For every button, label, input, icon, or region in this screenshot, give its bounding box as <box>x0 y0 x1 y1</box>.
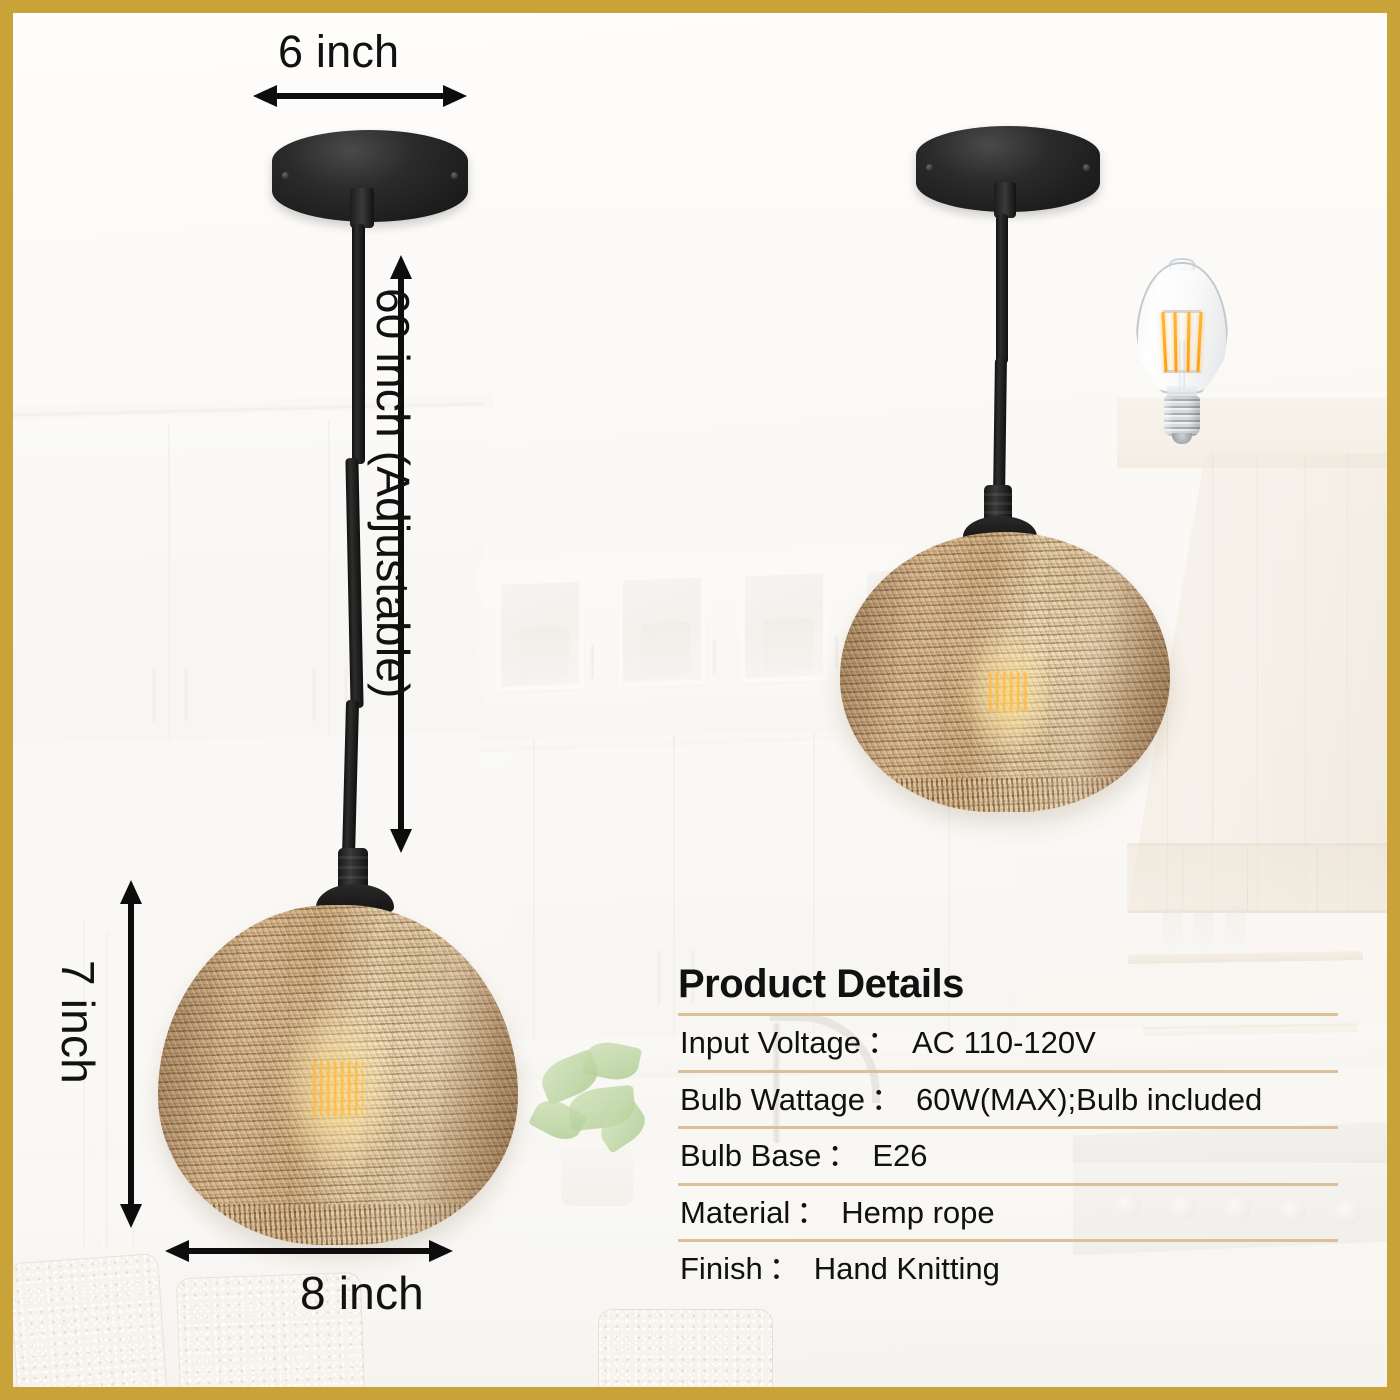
product-details-row: Input Voltage：AC 110-120V <box>678 1013 1338 1070</box>
detail-separator: ： <box>790 1195 829 1230</box>
detail-key: Bulb Base <box>680 1138 821 1173</box>
product-details-row: Finish：Hand Knitting <box>678 1239 1338 1296</box>
glassware <box>1163 908 1183 953</box>
detail-separator: ： <box>865 1082 904 1117</box>
product-details-panel: Product Details Input Voltage：AC 110-120… <box>678 963 1338 1296</box>
dimension-arrow-canopy-width <box>253 85 467 107</box>
hanging-cord <box>996 214 1008 364</box>
woven-rope-shade <box>840 532 1170 812</box>
bulb-stem <box>1179 340 1185 392</box>
bulb-screw-base <box>1164 396 1200 436</box>
detail-key: Input Voltage <box>680 1025 861 1060</box>
dimension-arrow-shade-width <box>165 1240 453 1262</box>
dining-chair <box>13 1253 168 1387</box>
hanging-cord <box>993 358 1007 498</box>
product-details-title: Product Details <box>678 963 1338 1013</box>
canopy-nipple <box>994 182 1016 218</box>
canopy-nipple <box>350 188 374 228</box>
dimension-label-cord-length: 60 inch (Adjustable) <box>366 288 420 699</box>
bulb-bridge <box>1163 370 1201 373</box>
product-details-row: Material：Hemp rope <box>678 1183 1338 1240</box>
dimension-arrow-shade-height <box>120 880 142 1228</box>
detail-key: Finish <box>680 1251 763 1286</box>
product-details-row: Bulb Wattage：60W(MAX);Bulb included <box>678 1070 1338 1127</box>
detail-value: E26 <box>860 1138 927 1173</box>
plant-pot <box>561 1148 633 1206</box>
product-details-row: Bulb Base：E26 <box>678 1126 1338 1183</box>
glassware <box>1193 911 1213 953</box>
detail-value: 60W(MAX);Bulb included <box>904 1082 1262 1117</box>
detail-key: Material <box>680 1195 790 1230</box>
detail-separator: ： <box>821 1138 860 1173</box>
detail-value: Hand Knitting <box>802 1251 1000 1286</box>
detail-value: Hemp rope <box>829 1195 994 1230</box>
woven-rope-shade <box>158 905 518 1245</box>
range-hood-band <box>1127 843 1387 913</box>
dining-chair <box>598 1309 773 1387</box>
dimension-label-canopy-width: 6 inch <box>278 26 399 78</box>
hanging-cord <box>352 224 365 464</box>
detail-value: AC 110-120V <box>900 1025 1096 1060</box>
dimension-label-shade-width: 8 inch <box>300 1266 424 1320</box>
detail-separator: ： <box>763 1251 802 1286</box>
glassware <box>1225 906 1245 953</box>
dimension-label-shade-height: 7 inch <box>51 960 105 1084</box>
bulb-bridge <box>1163 310 1201 313</box>
detail-separator: ： <box>861 1025 900 1060</box>
detail-key: Bulb Wattage <box>680 1082 865 1117</box>
product-infographic: 6 inch 60 inch (Adjustable) 7 inch 8 inc… <box>0 0 1400 1400</box>
